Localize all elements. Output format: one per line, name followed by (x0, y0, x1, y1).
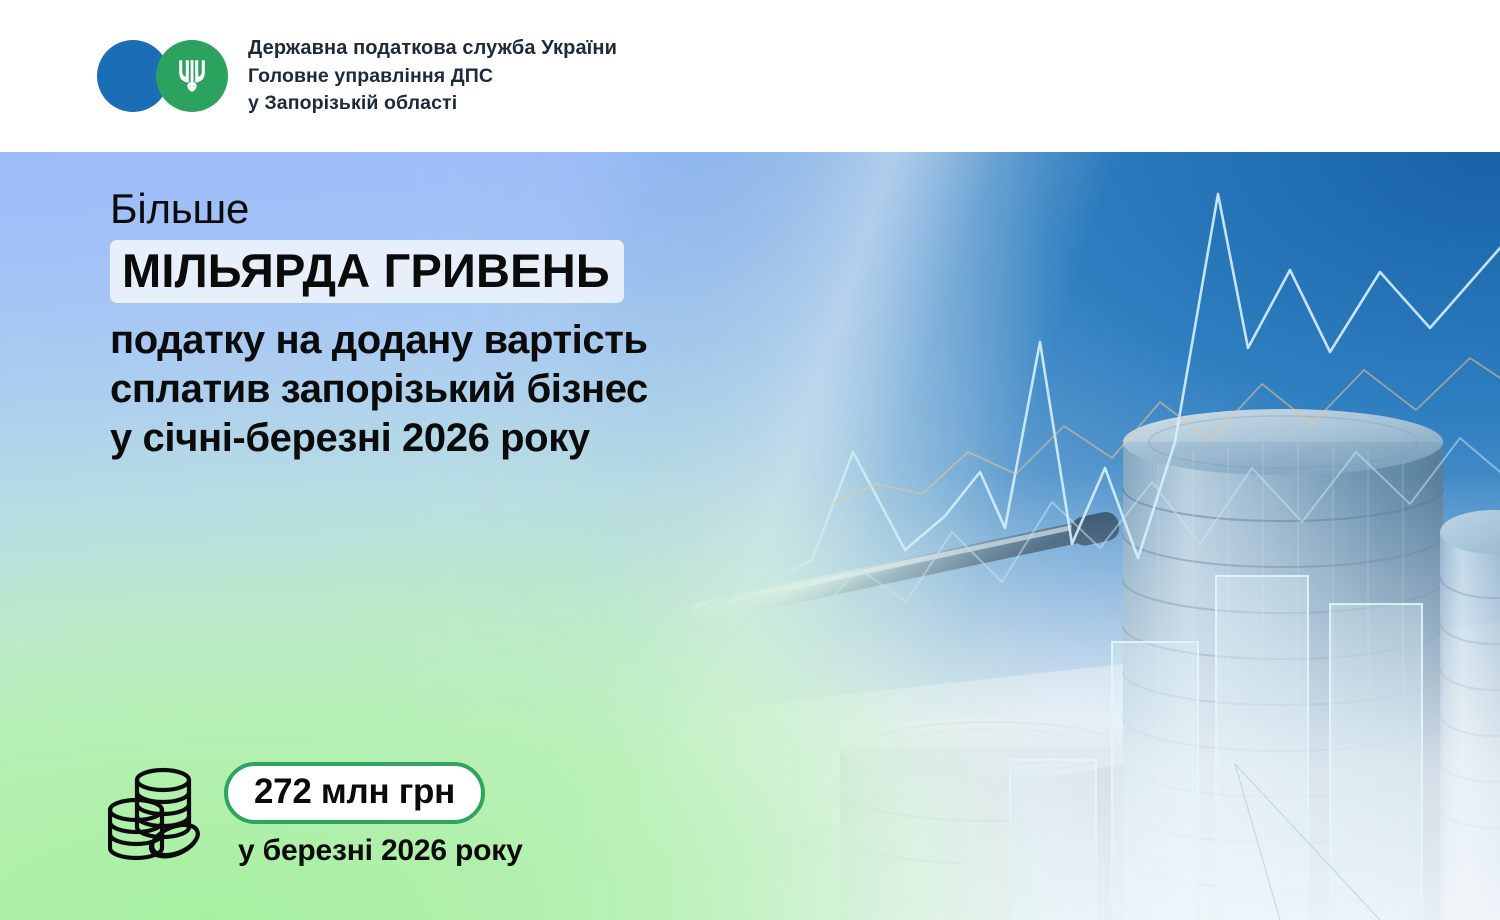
amount-pill: 272 млн грн (224, 762, 485, 824)
agency-logo (97, 40, 228, 112)
badge-period-label: у березні 2026 року (238, 834, 523, 868)
infographic-poster: Державна податкова служба України Головн… (0, 0, 1500, 920)
headline-body-line-1: податку на додану вартість (110, 316, 648, 365)
agency-name-block: Державна податкова служба України Головн… (248, 35, 617, 116)
headline-block: Більше МІЛЬЯРДА ГРИВЕНЬ податку на додан… (110, 185, 648, 463)
headline-highlight-wrap: МІЛЬЯРДА ГРИВЕНЬ (110, 240, 624, 303)
headline-body: податку на додану вартість сплатив запор… (110, 316, 648, 464)
ukraine-trident-icon (156, 40, 228, 112)
header-bar: Державна податкова служба України Головн… (0, 0, 1500, 152)
headline-highlight: МІЛЬЯРДА ГРИВЕНЬ (110, 240, 624, 303)
headline-body-line-3: у січні-березні 2026 року (110, 414, 648, 463)
coin-stack-icon (108, 766, 200, 864)
agency-name-line-1: Державна податкова служба України (248, 35, 617, 63)
amount-badge-block: 272 млн грн у березні 2026 року (108, 762, 523, 868)
badge-text-block: 272 млн грн у березні 2026 року (224, 762, 523, 868)
headline-prefix: Більше (110, 185, 648, 234)
agency-name-line-3: у Запорізькій області (248, 90, 617, 117)
agency-name-line-2: Головне управління ДПС (248, 63, 617, 90)
headline-body-line-2: сплатив запорізький бізнес (110, 365, 648, 414)
